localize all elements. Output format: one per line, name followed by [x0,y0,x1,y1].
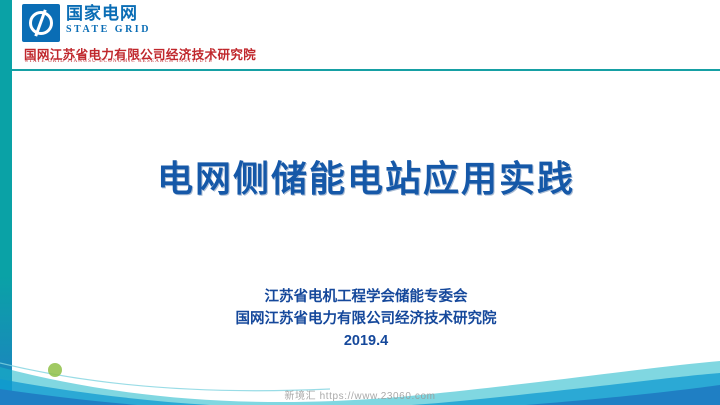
brand-text-group: 国家电网 STATE GRID [66,4,151,35]
title-block: 电网侧储能电站应用实践 [12,150,720,202]
subtitle-line-2: 国网江苏省电力有限公司经济技术研究院 [12,308,720,330]
slide-header: 国家电网 STATE GRID 国网江苏省电力有限公司经济技术研究院 STATE… [12,0,720,70]
slide-canvas: 国家电网 STATE GRID 国网江苏省电力有限公司经济技术研究院 STATE… [0,0,720,405]
company-name-cn: 国家电网 [66,4,151,24]
watermark-text: 新境汇 https://www.23060.com [284,387,435,402]
page-title: 电网侧储能电站应用实践 [12,150,720,202]
institute-name-en: STATE GRID JIANGSU ECONOMIC RESEARCH INS… [25,58,213,64]
subtitle-line-1: 江苏省电机工程学会储能专委会 [12,286,720,308]
company-name-en: STATE GRID [66,24,151,35]
circle-emblem-icon [48,363,62,377]
brand-lockup: 国家电网 STATE GRID [22,4,151,42]
header-divider [12,69,720,71]
subtitle-block: 江苏省电机工程学会储能专委会 国网江苏省电力有限公司经济技术研究院 2019.4 [12,286,720,352]
state-grid-logo-icon [22,4,60,42]
